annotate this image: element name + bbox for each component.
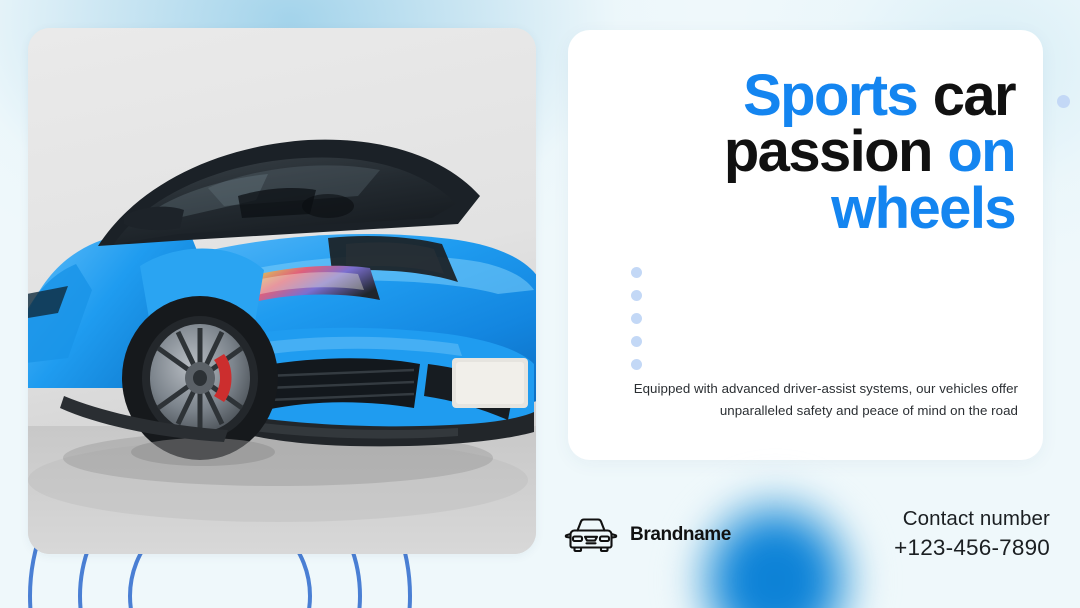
decorative-dot bbox=[631, 313, 642, 324]
decorative-dot bbox=[631, 359, 642, 370]
decorative-dot bbox=[631, 336, 642, 347]
headline-word-car: car bbox=[933, 63, 1015, 128]
accent-dot bbox=[1057, 95, 1070, 108]
contact-number[interactable]: +123-456-7890 bbox=[894, 533, 1050, 563]
headline-word-sports: Sports bbox=[743, 63, 917, 128]
banner-canvas: Sports car passion on wheels Equipped wi… bbox=[0, 0, 1080, 608]
page-title: Sports car passion on wheels bbox=[596, 68, 1015, 237]
description-text: Equipped with advanced driver-assist sys… bbox=[628, 378, 1018, 421]
headline-word-wheels: wheels bbox=[831, 176, 1015, 241]
headline-word-passion: passion bbox=[724, 119, 932, 184]
contact-label: Contact number bbox=[894, 505, 1050, 533]
car-photo bbox=[28, 28, 536, 554]
contact-block: Contact number +123-456-7890 bbox=[894, 505, 1050, 563]
dot-list-decoration bbox=[631, 267, 642, 370]
decorative-dot bbox=[631, 267, 642, 278]
decorative-dot bbox=[631, 290, 642, 301]
content-card: Sports car passion on wheels Equipped wi… bbox=[568, 30, 1043, 460]
headline-word-on: on bbox=[947, 119, 1015, 184]
brand-lockup[interactable]: Brandname bbox=[564, 515, 731, 555]
car-front-icon bbox=[564, 515, 618, 555]
brand-name-label: Brandname bbox=[630, 524, 731, 546]
